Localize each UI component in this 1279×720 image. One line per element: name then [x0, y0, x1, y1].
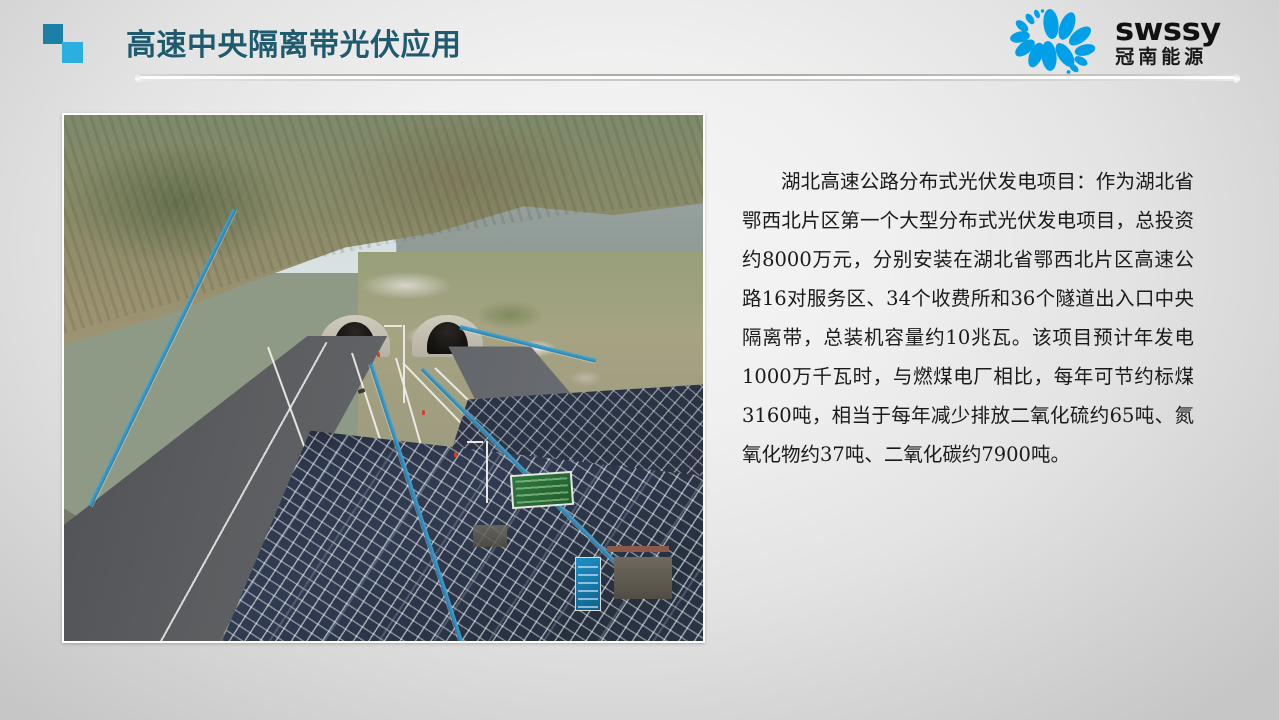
photo-traffic-cone	[377, 352, 380, 357]
page-title: 高速中央隔离带光伏应用	[126, 20, 462, 64]
brand-name: swssy	[1115, 15, 1221, 46]
slide-header: 高速中央隔离带光伏应用	[0, 0, 1279, 92]
photo-traffic-cone	[454, 452, 457, 457]
photo-green-gantry-sign	[510, 471, 574, 509]
divider-cap-right	[1234, 74, 1240, 83]
brand-subtitle: 冠南能源	[1115, 47, 1217, 68]
photo-canvas	[64, 115, 703, 641]
project-photo	[62, 113, 705, 643]
photo-traffic-cone	[422, 410, 425, 415]
decor-square-dark	[43, 24, 63, 44]
photo-lamp-post	[486, 441, 488, 503]
photo-building-roof	[607, 546, 669, 552]
photo-blue-roadside-sign	[575, 557, 601, 611]
decorative-squares	[43, 24, 91, 60]
photo-building	[473, 525, 507, 547]
brand-logo: swssy 冠南能源	[1003, 6, 1217, 76]
brand-text-block: swssy 冠南能源	[1115, 15, 1217, 68]
photo-lamp-post	[403, 325, 405, 403]
photo-sign-text-lines	[516, 476, 570, 504]
project-description: 湖北高速公路分布式光伏发电项目：作为湖北省鄂西北片区第一个大型分布式光伏发电项目…	[742, 162, 1194, 474]
flower-petals-icon	[1003, 6, 1107, 76]
divider-bottom-edge	[140, 79, 1235, 81]
photo-building	[614, 557, 672, 599]
photo-lamp-arm	[467, 441, 483, 443]
photo-sign-text-lines	[578, 560, 598, 608]
decor-square-light	[62, 42, 83, 63]
photo-lamp-arm	[384, 325, 402, 327]
